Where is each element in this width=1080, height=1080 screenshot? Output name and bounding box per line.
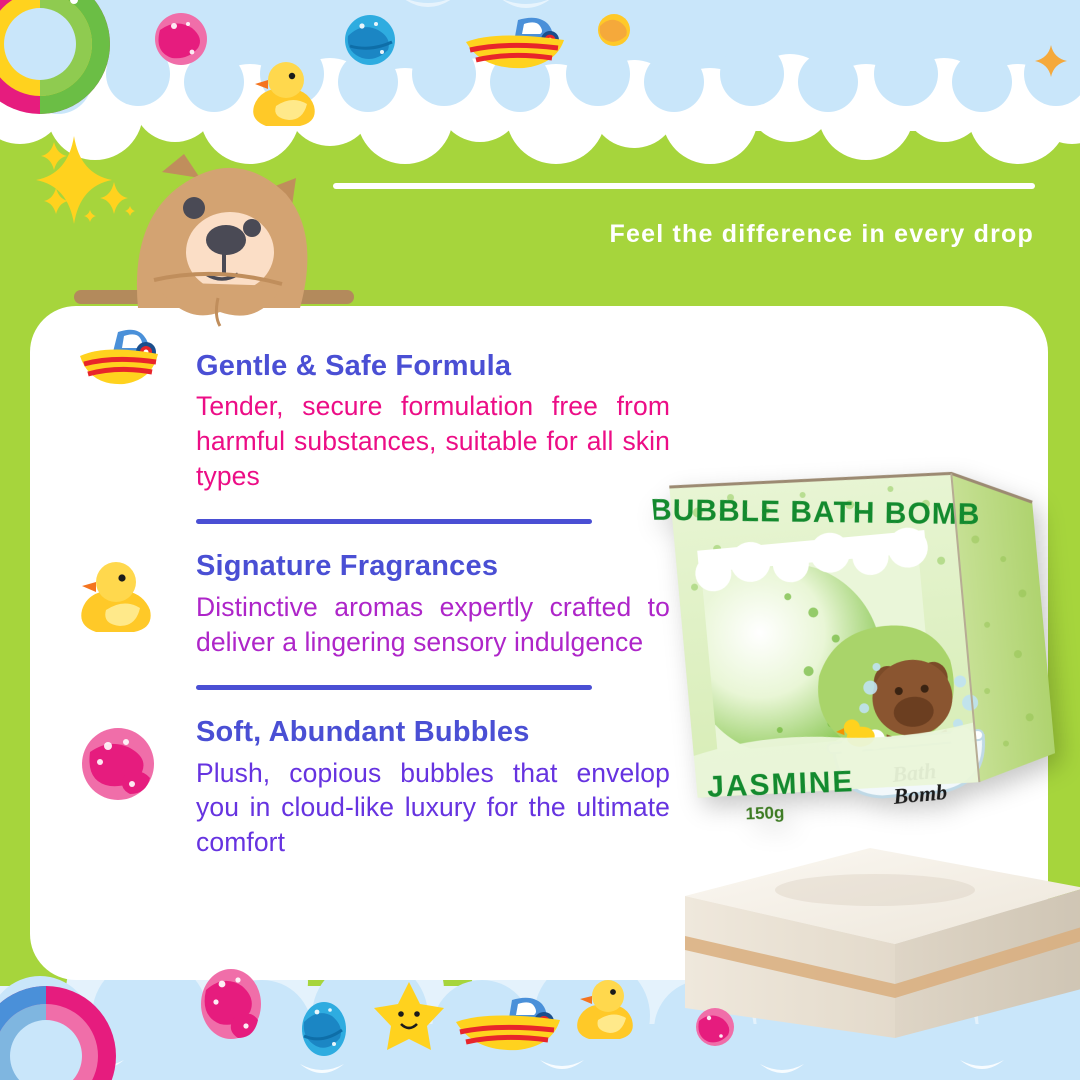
benefit-body: Distinctive aromas expertly crafted to d… xyxy=(196,590,670,659)
toy-boat-icon xyxy=(452,990,568,1056)
bath-bomb-yellow-icon xyxy=(596,12,632,48)
product-box: BUBBLE BATH BOMB xyxy=(649,423,1080,857)
benefit-body: Tender, secure formulation free from har… xyxy=(196,389,670,493)
benefits-list: Gentle & Safe Formula Tender, secure for… xyxy=(30,306,670,860)
bath-bomb-pink-icon xyxy=(694,1006,736,1048)
product-scent-text: JASMINE xyxy=(707,765,856,804)
sparkle-icon xyxy=(34,132,146,228)
benefit-body: Plush, copious bubbles that envelop you … xyxy=(196,756,670,860)
benefit-item-soft-abundant-bubbles: Soft, Abundant Bubbles Plush, copious bu… xyxy=(30,716,670,859)
rubber-duck-icon xyxy=(246,54,328,136)
bath-bomb-blue-icon xyxy=(300,1000,348,1058)
benefit-item-signature-fragrances: Signature Fragrances Distinctive aromas … xyxy=(30,550,670,659)
benefit-divider-2 xyxy=(196,685,592,690)
benefit-title: Signature Fragrances xyxy=(196,550,670,583)
sparkle-small-icon xyxy=(1034,44,1068,78)
toy-boat-icon xyxy=(72,308,164,400)
toy-boat-icon xyxy=(462,10,572,72)
rubber-duck-icon xyxy=(572,972,644,1046)
swim-ring-icon xyxy=(0,980,134,1080)
swim-ring-icon xyxy=(0,0,134,126)
page-subtitle: Feel the difference in every drop xyxy=(610,220,1034,249)
bath-bomb-pink-icon xyxy=(198,966,264,1042)
benefit-title: Soft, Abundant Bubbles xyxy=(196,716,670,749)
star-icon xyxy=(372,980,446,1052)
rubber-duck-icon xyxy=(72,552,164,644)
product-heading-text: BUBBLE BATH BOMB xyxy=(650,494,981,532)
bath-bomb-blue-icon xyxy=(342,12,398,68)
product-weight-text: 150g xyxy=(745,803,784,823)
header-divider-rule xyxy=(333,183,1035,189)
benefit-divider-1 xyxy=(196,519,592,524)
benefit-item-gentle-safe-formula: Gentle & Safe Formula Tender, secure for… xyxy=(30,306,670,493)
bath-bomb-pink-icon xyxy=(72,718,164,810)
poster-canvas: BENEFITS Feel the difference in every dr… xyxy=(0,0,1080,1080)
benefit-title: Gentle & Safe Formula xyxy=(196,350,670,383)
bath-bomb-pink-icon xyxy=(152,10,210,68)
